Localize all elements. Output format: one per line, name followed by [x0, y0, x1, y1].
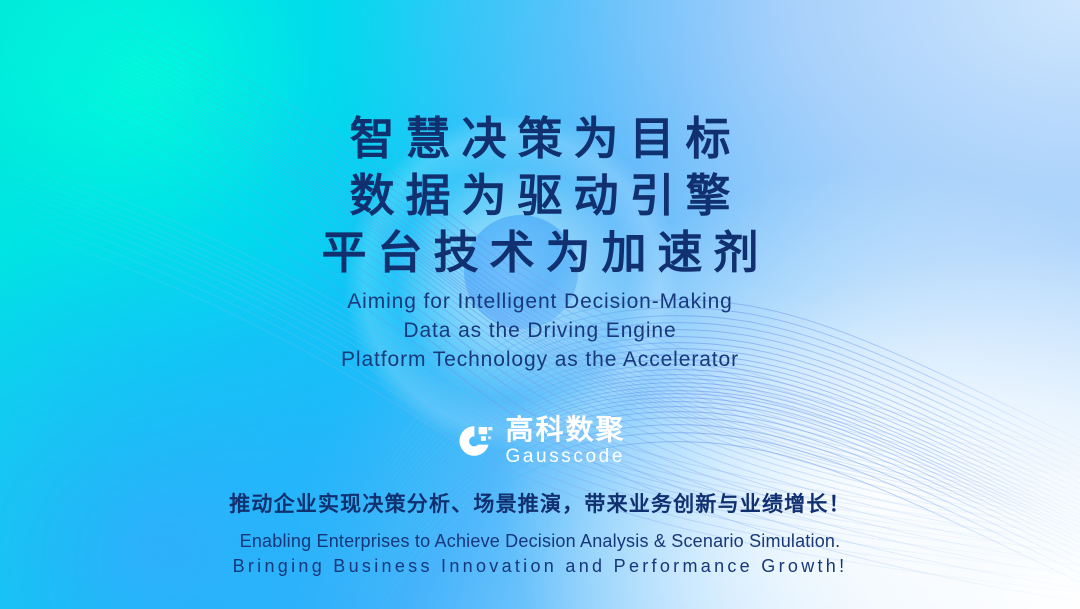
headline-line-2: 数据为驱动引擎	[310, 167, 769, 224]
tagline-en-line-2: Bringing Business Innovation and Perform…	[229, 554, 851, 579]
subtitle-line-1: Aiming for Intelligent Decision-Making	[341, 287, 739, 316]
slide-canvas: 智慧决策为目标 数据为驱动引擎 平台技术为加速剂 Aiming for Inte…	[0, 0, 1080, 609]
tagline-cn: 推动企业实现决策分析、场景推演，带来业务创新与业绩增长！	[229, 490, 851, 520]
gausscode-g-mark-icon	[454, 421, 494, 461]
subtitle-line-3: Platform Technology as the Accelerator	[341, 345, 739, 374]
logo-name-cn: 高科数聚	[505, 416, 625, 444]
tagline-en-line-1: Enabling Enterprises to Achieve Decision…	[229, 529, 851, 554]
headline: 智慧决策为目标 数据为驱动引擎 平台技术为加速剂	[310, 110, 769, 281]
logo: 高科数聚 Gausscode	[454, 416, 625, 466]
tagline-en: Enabling Enterprises to Achieve Decision…	[229, 529, 851, 579]
logo-name-en: Gausscode	[505, 447, 625, 466]
logo-wordmark: 高科数聚 Gausscode	[505, 416, 625, 466]
headline-line-1: 智慧决策为目标	[310, 110, 769, 167]
tagline: 推动企业实现决策分析、场景推演，带来业务创新与业绩增长！ Enabling En…	[229, 490, 851, 579]
slide-content: 智慧决策为目标 数据为驱动引擎 平台技术为加速剂 Aiming for Inte…	[0, 0, 1080, 609]
subtitle-line-2: Data as the Driving Engine	[341, 316, 739, 345]
subtitle: Aiming for Intelligent Decision-Making D…	[341, 287, 739, 374]
headline-line-3: 平台技术为加速剂	[310, 224, 769, 281]
